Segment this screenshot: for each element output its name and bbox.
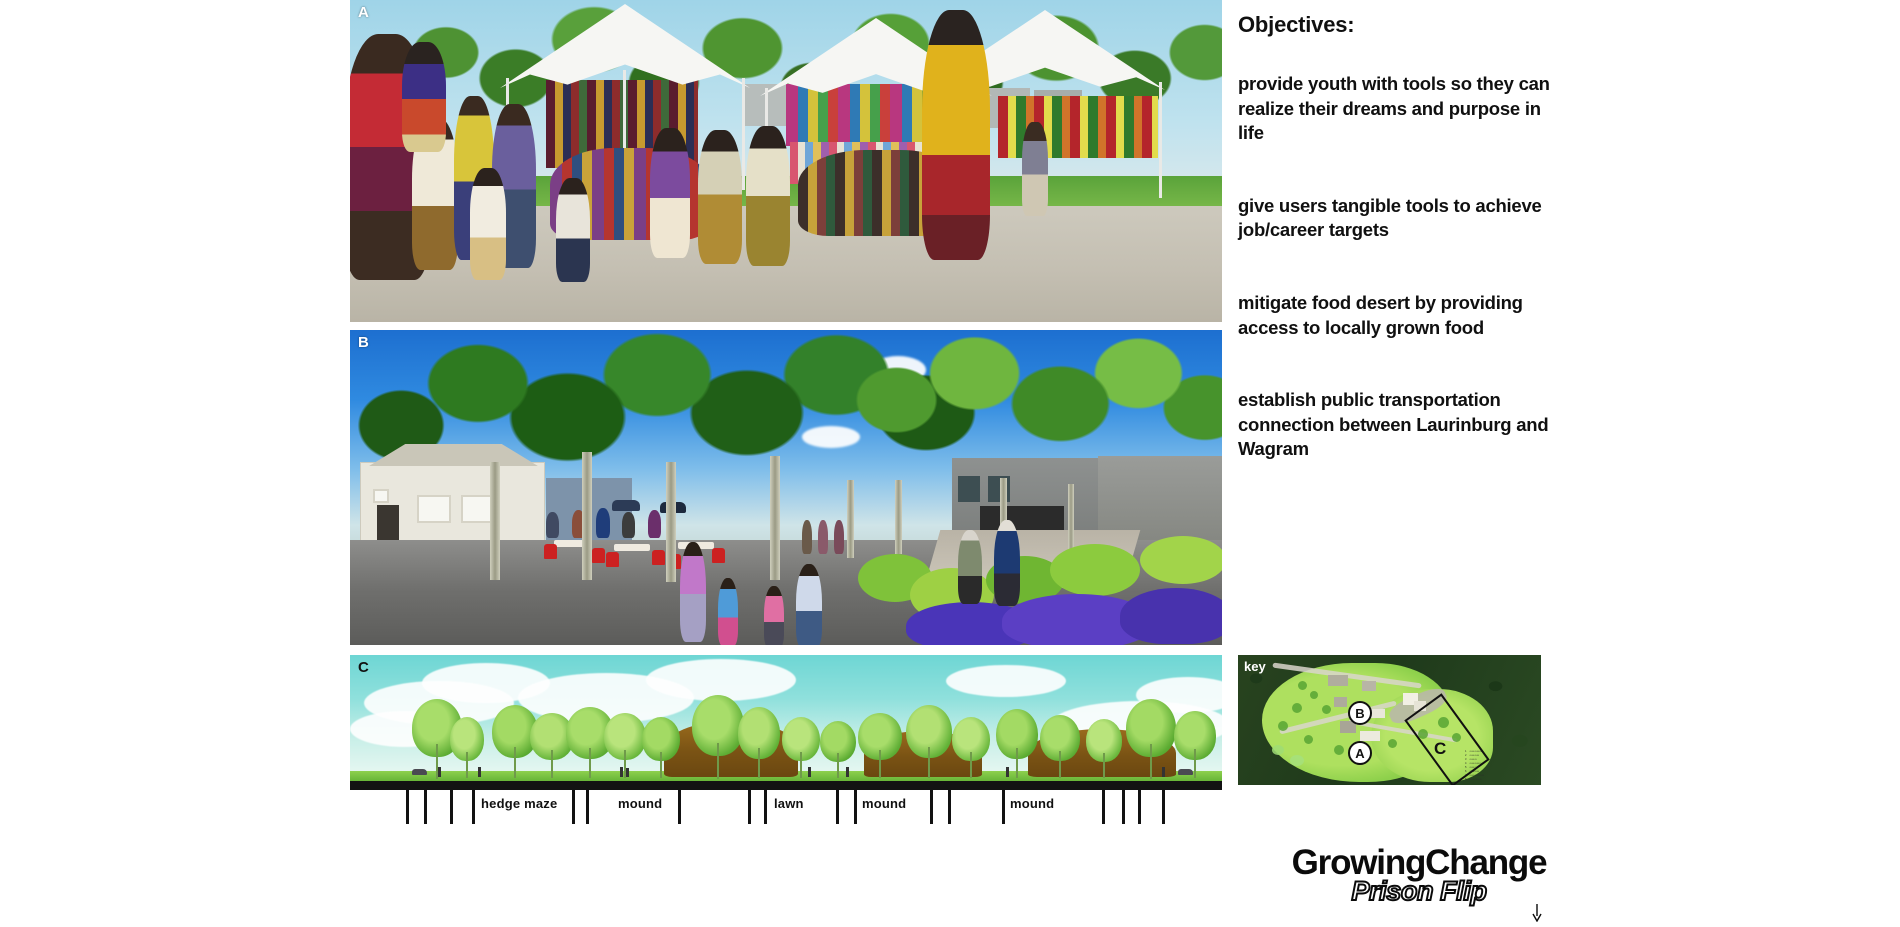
dimension-tick (572, 790, 575, 824)
tree-canopy-dot (1278, 721, 1288, 731)
distant-figure (834, 520, 844, 554)
tree-canopy-dot (1334, 745, 1344, 755)
key-map[interactable]: B A C key 1▭▭▭▭▭ 2▭▭▭▭ 3▭▭▭ 4▭▭▭▭▭ 5▭▭▭ … (1238, 655, 1541, 785)
section-dimension-label: mound (1010, 796, 1054, 811)
distant-figure (818, 520, 828, 554)
dimension-tick (836, 790, 839, 824)
panel-label-c: C (358, 659, 369, 676)
panel-a-festival-rendering: A (350, 0, 1222, 322)
tree-canopy-dot (1292, 703, 1302, 713)
dimension-tick (948, 790, 951, 824)
tree-trunk (770, 456, 780, 580)
tree-trunk (895, 480, 902, 554)
tree-canopy-dot (1304, 735, 1313, 744)
elderly-man-figure (994, 520, 1020, 606)
logo-secondary-text: Prison Flip (1274, 878, 1564, 905)
tree-canopy-dot (1388, 739, 1397, 748)
seated-patron (648, 510, 661, 538)
section-dimension-label: mound (862, 796, 906, 811)
dimension-tick (450, 790, 453, 824)
tree-trunk (847, 480, 854, 558)
tree-canopy-dot (1322, 705, 1331, 714)
section-tree (604, 713, 646, 777)
dimension-tick (1002, 790, 1005, 824)
cloud (946, 665, 1066, 697)
section-tree (906, 705, 952, 777)
building-window (417, 495, 451, 523)
panel-c-site-section: hedge maze mound lawn mound mound C (350, 655, 1222, 830)
stilt-performer (402, 42, 446, 152)
cafe-chair (712, 548, 725, 563)
scale-figure (478, 767, 481, 777)
objectives-title: Objectives: (1238, 12, 1568, 38)
tree-trunk (490, 462, 500, 580)
stilt-walker-costume (922, 10, 990, 260)
dimension-tick (930, 790, 933, 824)
dimension-tick (678, 790, 681, 824)
pavilion-window (958, 476, 980, 502)
section-tree (642, 717, 680, 777)
scale-car (412, 769, 427, 775)
tent-leg (1159, 82, 1162, 198)
dancer-figure (746, 126, 790, 266)
tree-canopy-dot (1298, 681, 1307, 690)
section-tree (1040, 715, 1080, 777)
cafe-chair (592, 548, 605, 563)
child-figure (764, 586, 784, 645)
key-marker-b[interactable]: B (1348, 701, 1372, 725)
objectives-block: Objectives: provide youth with tools so … (1238, 12, 1568, 462)
scale-figure (1006, 767, 1009, 777)
seated-patron (622, 512, 635, 538)
dimension-tick (424, 790, 427, 824)
adult-figure (796, 564, 822, 645)
tent-leg (742, 78, 745, 190)
section-tree (820, 721, 856, 777)
child-drummer (470, 168, 506, 280)
pedestrian-figure (680, 542, 706, 642)
seated-patron (546, 512, 559, 538)
tree-canopy-dot (1310, 691, 1318, 699)
lavender-planting (1120, 588, 1222, 644)
shrub (1140, 536, 1222, 584)
key-area-label-c: C (1434, 739, 1446, 759)
dimension-tick (764, 790, 767, 824)
section-dimension-label: hedge maze (481, 796, 557, 811)
scale-figure (808, 767, 811, 777)
panel-label-a: A (358, 4, 369, 21)
section-ground-line (350, 781, 1222, 790)
cafe-chair (606, 552, 619, 567)
tree-canopy-dot (1272, 745, 1284, 755)
site-building (1371, 709, 1385, 718)
market-tent (500, 4, 750, 88)
tree-trunk (582, 452, 592, 580)
section-tree (952, 717, 990, 777)
presentation-board: A (0, 0, 1900, 927)
section-dimension-label: lawn (774, 796, 804, 811)
elderly-woman-figure (958, 530, 982, 604)
scale-figure (438, 767, 441, 777)
scale-figure (1162, 767, 1165, 777)
cafe-chair (544, 544, 557, 559)
key-map-legend: 1▭▭▭▭▭ 2▭▭▭▭ 3▭▭▭ 4▭▭▭▭▭ 5▭▭▭ 6▭▭▭▭ 7▭▭▭… (1465, 750, 1537, 782)
dimension-tick (586, 790, 589, 824)
section-tree (858, 713, 902, 777)
dimension-tick (406, 790, 409, 824)
scale-car (1178, 769, 1193, 775)
dimension-tick (1138, 790, 1141, 824)
section-tree (996, 709, 1038, 777)
dimension-tick (1102, 790, 1105, 824)
tree-trunk (1068, 484, 1074, 550)
visitor-figure (1022, 122, 1048, 216)
section-dimension-label: mound (618, 796, 662, 811)
project-logo: GrowingChange Prison Flip (1274, 845, 1564, 905)
panel-b-market-street-rendering: B (350, 330, 1222, 645)
dimension-tick (1122, 790, 1125, 824)
dancer-figure (650, 128, 690, 258)
parked-car (612, 500, 640, 511)
objective-item-1: provide youth with tools so they can rea… (1238, 72, 1568, 146)
cafe-table (614, 544, 650, 551)
key-marker-a[interactable]: A (1348, 741, 1372, 765)
dimension-tick (472, 790, 475, 824)
section-tree (782, 717, 820, 777)
tree-canopy-dot (1290, 755, 1304, 766)
objective-item-4: establish public transportation connecti… (1238, 388, 1568, 462)
panel-label-b: B (358, 334, 369, 351)
section-tree (1174, 711, 1216, 777)
cafe-chair (652, 550, 665, 565)
child-drummer (556, 178, 590, 282)
site-building (1360, 731, 1380, 741)
objective-item-2: give users tangible tools to achieve job… (1238, 194, 1568, 243)
dimension-tick (854, 790, 857, 824)
child-figure (718, 578, 738, 645)
dimension-tick (748, 790, 751, 824)
seated-patron (596, 508, 610, 538)
scale-figure (626, 768, 629, 777)
dimension-tick (1162, 790, 1165, 824)
section-tree (692, 695, 744, 777)
dancer-figure (698, 130, 742, 264)
site-building (1362, 681, 1376, 691)
tree-trunk (666, 462, 676, 582)
shrub (1050, 544, 1140, 596)
building-window (373, 489, 389, 503)
section-tree (738, 707, 780, 777)
distant-figure (802, 520, 812, 554)
site-building (1334, 697, 1347, 707)
scale-figure (620, 767, 623, 777)
section-tree (1086, 719, 1122, 777)
scale-figure (846, 767, 849, 777)
legend-row: 8▭▭▭▭▭ (1465, 778, 1537, 782)
down-arrow-icon (1532, 904, 1542, 922)
objective-item-3: mitigate food desert by providing access… (1238, 291, 1568, 340)
site-building (1328, 675, 1348, 686)
key-map-title: key (1244, 659, 1266, 674)
section-tree (1126, 699, 1176, 777)
logo-primary-text: GrowingChange (1274, 845, 1564, 880)
